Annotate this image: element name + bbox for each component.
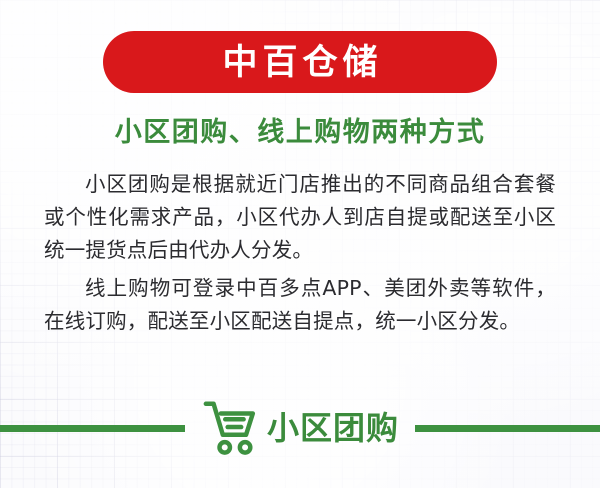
footer-divider-left bbox=[0, 425, 185, 432]
section-heading: 小区团购、线上购物两种方式 bbox=[115, 117, 486, 148]
brand-title: 中百仓储 bbox=[217, 45, 382, 80]
poster-canvas: 中百仓储 小区团购、线上购物两种方式 小区团购是根据就近门店推出的不同商品组合套… bbox=[0, 0, 600, 488]
paragraph-community-group-buy: 小区团购是根据就近门店推出的不同商品组合套餐或个性化需求产品，小区代办人到店自提… bbox=[44, 168, 556, 267]
footer-divider-right bbox=[415, 425, 600, 432]
footer-badge-label: 小区团购 bbox=[267, 412, 399, 444]
title-banner: 中百仓储 bbox=[103, 31, 497, 93]
shopping-cart-icon bbox=[201, 397, 263, 459]
footer-badge: 小区团购 bbox=[201, 397, 399, 459]
body-copy: 小区团购是根据就近门店推出的不同商品组合套餐或个性化需求产品，小区代办人到店自提… bbox=[44, 168, 556, 338]
footer-band: 小区团购 bbox=[0, 390, 600, 466]
paragraph-online-shopping: 线上购物可登录中百多点APP、美团外卖等软件，在线订购，配送至小区配送自提点，统… bbox=[44, 272, 556, 338]
